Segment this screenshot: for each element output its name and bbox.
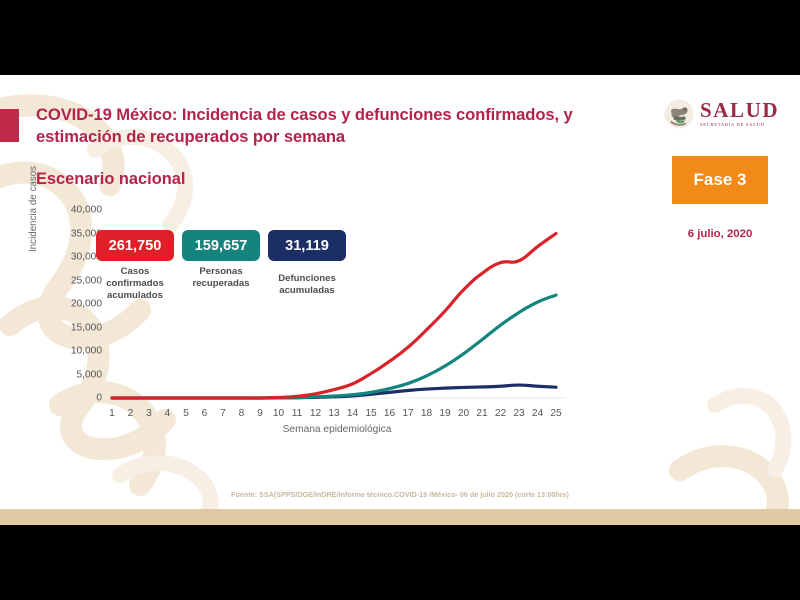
x-axis-tick-label: 8 [239,408,245,419]
phase-badge: Fase 3 [672,156,768,204]
y-axis-tick-label: 15,000 [44,322,102,333]
y-axis-tick-label: 40,000 [44,205,102,216]
x-axis-tick-label: 10 [273,408,284,419]
x-axis-tick-label: 24 [532,408,543,419]
x-axis-ticks: 1234567891011121314151617181920212223242… [108,408,566,424]
y-axis-tick-label: 10,000 [44,346,102,357]
stat-box: 159,657Personas recuperadas [182,230,260,290]
y-axis-tick-label: 5,000 [44,369,102,380]
x-axis-tick-label: 13 [328,408,339,419]
salud-logo: SALUD SECRETARÍA DE SALUD [664,99,779,129]
phase-badge-label: Fase 3 [694,170,747,190]
x-axis-tick-label: 25 [550,408,561,419]
stat-caption: Defunciones acumuladas [268,273,346,297]
x-axis-tick-label: 3 [146,408,152,419]
x-axis-tick-label: 9 [257,408,263,419]
presentation-slide: COVID-19 México: Incidencia de casos y d… [0,75,800,525]
chart-line-series [112,295,556,398]
y-axis-tick-label: 35,000 [44,228,102,239]
stat-caption: Personas recuperadas [182,266,260,290]
x-axis-tick-label: 6 [202,408,208,419]
y-axis-tick-label: 25,000 [44,275,102,286]
x-axis-tick-label: 15 [365,408,376,419]
title-accent-bar [0,109,19,142]
x-axis-tick-label: 22 [495,408,506,419]
x-axis-tick-label: 23 [513,408,524,419]
x-axis-tick-label: 19 [439,408,450,419]
stat-value: 261,750 [109,238,162,254]
salud-logo-text: SALUD SECRETARÍA DE SALUD [700,100,779,128]
x-axis-title: Semana epidemiológica [108,424,566,435]
y-axis-tick-label: 0 [44,393,102,404]
summary-stat-boxes: 261,750Casos confirmados acumulados159,6… [96,230,346,302]
stat-box: 261,750Casos confirmados acumulados [96,230,174,302]
x-axis-tick-label: 7 [220,408,226,419]
salud-logo-subtitle: SECRETARÍA DE SALUD [700,123,779,128]
stat-caption: Casos confirmados acumulados [96,266,174,302]
x-axis-tick-label: 12 [310,408,321,419]
y-axis-ticks: 40,00035,00030,00025,00020,00015,00010,0… [44,200,102,406]
x-axis-tick-label: 16 [384,408,395,419]
stat-value-chip: 261,750 [96,230,174,261]
x-axis-tick-label: 17 [402,408,413,419]
mexican-eagle-emblem-icon [664,99,694,129]
x-axis-tick-label: 4 [165,408,171,419]
stat-value: 159,657 [195,238,248,254]
x-axis-tick-label: 5 [183,408,189,419]
slide-date: 6 julio, 2020 [672,228,768,240]
stat-value-chip: 159,657 [182,230,260,261]
x-axis-tick-label: 1 [109,408,115,419]
x-axis-tick-label: 14 [347,408,358,419]
x-axis-tick-label: 20 [458,408,469,419]
y-axis-tick-label: 30,000 [44,252,102,263]
slide-letterbox-frame: COVID-19 México: Incidencia de casos y d… [0,0,800,600]
x-axis-tick-label: 2 [128,408,134,419]
y-axis-tick-label: 20,000 [44,299,102,310]
stat-value-chip: 31,119 [268,230,346,261]
x-axis-tick-label: 18 [421,408,432,419]
stat-box: 31,119Defunciones acumuladas [268,230,346,297]
salud-wordmark: SALUD [700,100,779,121]
x-axis-tick-label: 11 [292,408,303,419]
y-axis-title: Incidencia de casos [28,238,39,252]
slide-bottom-bar [0,509,800,525]
page-subtitle: Escenario nacional [36,170,185,189]
x-axis-tick-label: 21 [476,408,487,419]
stat-value: 31,119 [285,238,329,254]
page-title: COVID-19 México: Incidencia de casos y d… [36,104,596,148]
source-footnote: Fuente: SSA(SPPS/DGE/InDRE/Informe técni… [0,490,800,499]
